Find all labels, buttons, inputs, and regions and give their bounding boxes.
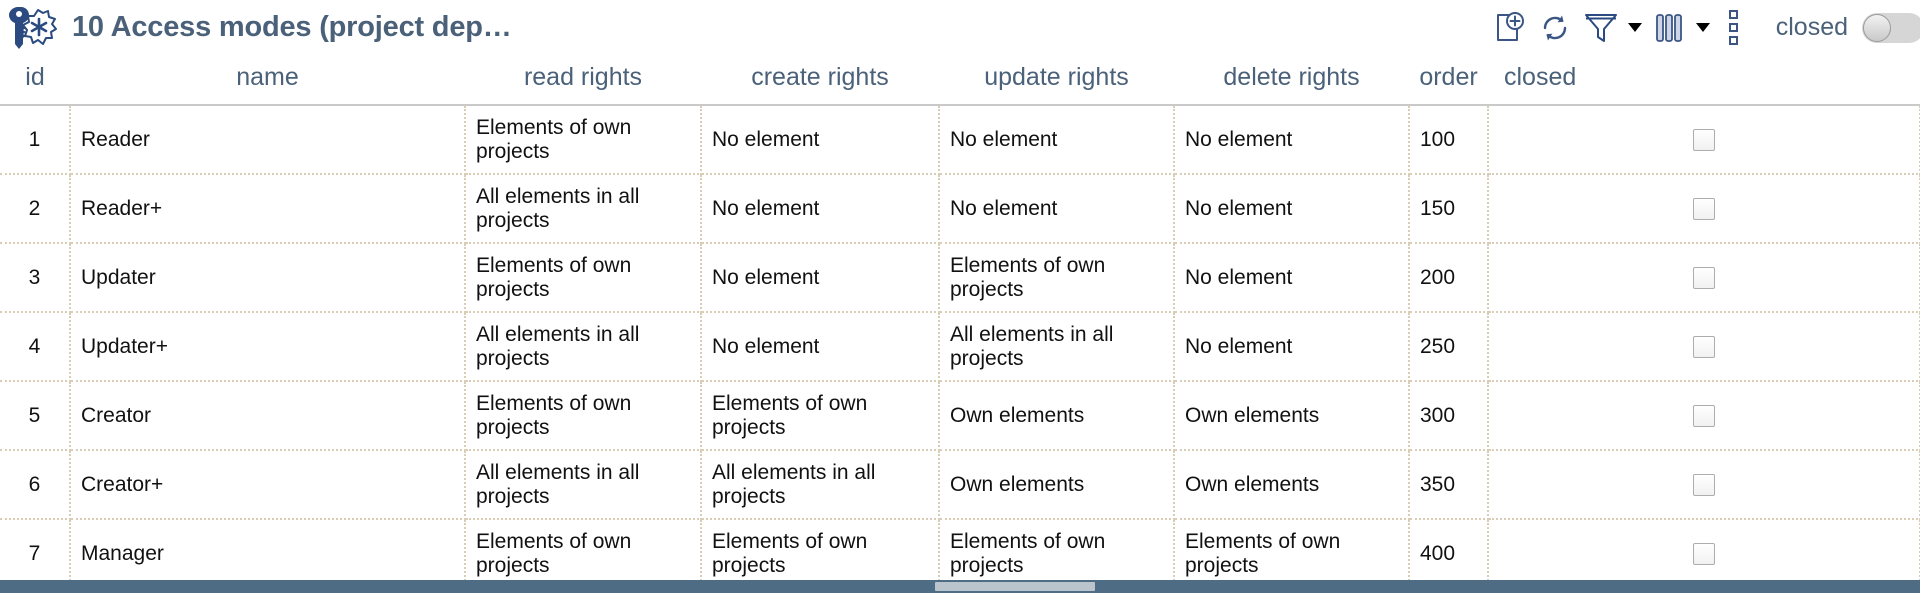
cell-name[interactable]: Updater+ [70, 312, 465, 381]
cell-read-rights[interactable]: Elements of own projects [465, 381, 701, 450]
cell-delete-rights[interactable]: No element [1174, 243, 1409, 312]
header-toolbar: closed [1486, 0, 1920, 55]
cell-name[interactable]: Manager [70, 519, 465, 588]
data-grid-container: id name read rights create rights update… [0, 55, 1920, 593]
cell-order[interactable]: 150 [1409, 174, 1488, 243]
table-row[interactable]: 3UpdaterElements of own projectsNo eleme… [0, 243, 1920, 312]
cell-update-rights[interactable]: All elements in all projects [939, 312, 1174, 381]
cell-order[interactable]: 300 [1409, 381, 1488, 450]
cell-delete-rights[interactable]: Own elements [1174, 381, 1409, 450]
table-row[interactable]: 2Reader+All elements in all projectsNo e… [0, 174, 1920, 243]
cell-update-rights[interactable]: Elements of own projects [939, 243, 1174, 312]
cell-read-rights[interactable]: All elements in all projects [465, 312, 701, 381]
table-row[interactable]: 6Creator+All elements in all projectsAll… [0, 450, 1920, 519]
cell-id[interactable]: 3 [0, 243, 70, 312]
cell-create-rights[interactable]: No element [701, 312, 939, 381]
app-root: 10 Access modes (project dep… [0, 0, 1920, 593]
cell-id[interactable]: 7 [0, 519, 70, 588]
access-modes-table: id name read rights create rights update… [0, 55, 1920, 593]
table-body: 1ReaderElements of own projectsNo elemen… [0, 105, 1920, 593]
cell-id[interactable]: 6 [0, 450, 70, 519]
cell-order[interactable]: 350 [1409, 450, 1488, 519]
cell-name[interactable]: Creator [70, 381, 465, 450]
new-record-icon[interactable] [1486, 5, 1532, 51]
column-header-order[interactable]: order [1409, 55, 1488, 105]
cell-name[interactable]: Creator+ [70, 450, 465, 519]
cell-order[interactable]: 100 [1409, 105, 1488, 174]
cell-create-rights[interactable]: No element [701, 105, 939, 174]
cell-closed[interactable] [1488, 243, 1920, 312]
refresh-icon[interactable] [1532, 5, 1578, 51]
key-gear-icon [8, 4, 60, 52]
cell-id[interactable]: 5 [0, 381, 70, 450]
closed-checkbox[interactable] [1693, 405, 1715, 427]
cell-read-rights[interactable]: Elements of own projects [465, 243, 701, 312]
cell-closed[interactable] [1488, 450, 1920, 519]
column-header-read[interactable]: read rights [465, 55, 701, 105]
cell-update-rights[interactable]: Elements of own projects [939, 519, 1174, 588]
closed-checkbox[interactable] [1693, 543, 1715, 565]
closed-toggle-switch[interactable] [1862, 13, 1920, 43]
toggle-knob [1863, 14, 1891, 42]
cell-name[interactable]: Reader+ [70, 174, 465, 243]
cell-create-rights[interactable]: No element [701, 174, 939, 243]
cell-update-rights[interactable]: Own elements [939, 450, 1174, 519]
cell-delete-rights[interactable]: Own elements [1174, 450, 1409, 519]
cell-closed[interactable] [1488, 174, 1920, 243]
cell-update-rights[interactable]: No element [939, 174, 1174, 243]
cell-order[interactable]: 400 [1409, 519, 1488, 588]
cell-closed[interactable] [1488, 519, 1920, 588]
cell-update-rights[interactable]: Own elements [939, 381, 1174, 450]
column-header-update[interactable]: update rights [939, 55, 1174, 105]
cell-closed[interactable] [1488, 381, 1920, 450]
cell-id[interactable]: 2 [0, 174, 70, 243]
cell-order[interactable]: 200 [1409, 243, 1488, 312]
chevron-down-icon-filter[interactable] [1624, 5, 1646, 51]
chevron-down-icon-columns[interactable] [1692, 5, 1714, 51]
columns-icon[interactable] [1646, 5, 1692, 51]
column-header-id[interactable]: id [0, 55, 70, 105]
cell-id[interactable]: 1 [0, 105, 70, 174]
cell-create-rights[interactable]: Elements of own projects [701, 519, 939, 588]
filter-funnel-icon[interactable] [1578, 5, 1624, 51]
cell-name[interactable]: Updater [70, 243, 465, 312]
column-header-create[interactable]: create rights [701, 55, 939, 105]
cell-update-rights[interactable]: No element [939, 105, 1174, 174]
column-header-closed[interactable]: closed [1488, 55, 1920, 105]
horizontal-scrollbar[interactable] [0, 580, 1920, 593]
scrollbar-thumb[interactable] [935, 582, 1095, 591]
page-title: 10 Access modes (project dep… [72, 13, 512, 42]
cell-closed[interactable] [1488, 312, 1920, 381]
closed-toggle-label: closed [1776, 15, 1848, 40]
table-row[interactable]: 1ReaderElements of own projectsNo elemen… [0, 105, 1920, 174]
cell-create-rights[interactable]: Elements of own projects [701, 381, 939, 450]
closed-checkbox[interactable] [1693, 474, 1715, 496]
table-row[interactable]: 7ManagerElements of own projectsElements… [0, 519, 1920, 588]
column-header-name[interactable]: name [70, 55, 465, 105]
closed-checkbox[interactable] [1693, 336, 1715, 358]
table-header: id name read rights create rights update… [0, 55, 1920, 105]
table-row[interactable]: 4Updater+All elements in all projectsNo … [0, 312, 1920, 381]
cell-create-rights[interactable]: No element [701, 243, 939, 312]
cell-delete-rights[interactable]: No element [1174, 105, 1409, 174]
cell-closed[interactable] [1488, 105, 1920, 174]
vertical-dots-icon[interactable] [1714, 5, 1754, 51]
table-row[interactable]: 5CreatorElements of own projectsElements… [0, 381, 1920, 450]
closed-checkbox[interactable] [1693, 198, 1715, 220]
closed-checkbox[interactable] [1693, 267, 1715, 289]
table-header-row: id name read rights create rights update… [0, 55, 1920, 105]
cell-read-rights[interactable]: All elements in all projects [465, 450, 701, 519]
cell-read-rights[interactable]: Elements of own projects [465, 519, 701, 588]
cell-delete-rights[interactable]: No element [1174, 312, 1409, 381]
cell-order[interactable]: 250 [1409, 312, 1488, 381]
cell-read-rights[interactable]: All elements in all projects [465, 174, 701, 243]
cell-read-rights[interactable]: Elements of own projects [465, 105, 701, 174]
cell-delete-rights[interactable]: No element [1174, 174, 1409, 243]
cell-name[interactable]: Reader [70, 105, 465, 174]
cell-delete-rights[interactable]: Elements of own projects [1174, 519, 1409, 588]
cell-id[interactable]: 4 [0, 312, 70, 381]
page-header: 10 Access modes (project dep… [0, 0, 1920, 55]
closed-checkbox[interactable] [1693, 129, 1715, 151]
cell-create-rights[interactable]: All elements in all projects [701, 450, 939, 519]
column-header-delete[interactable]: delete rights [1174, 55, 1409, 105]
